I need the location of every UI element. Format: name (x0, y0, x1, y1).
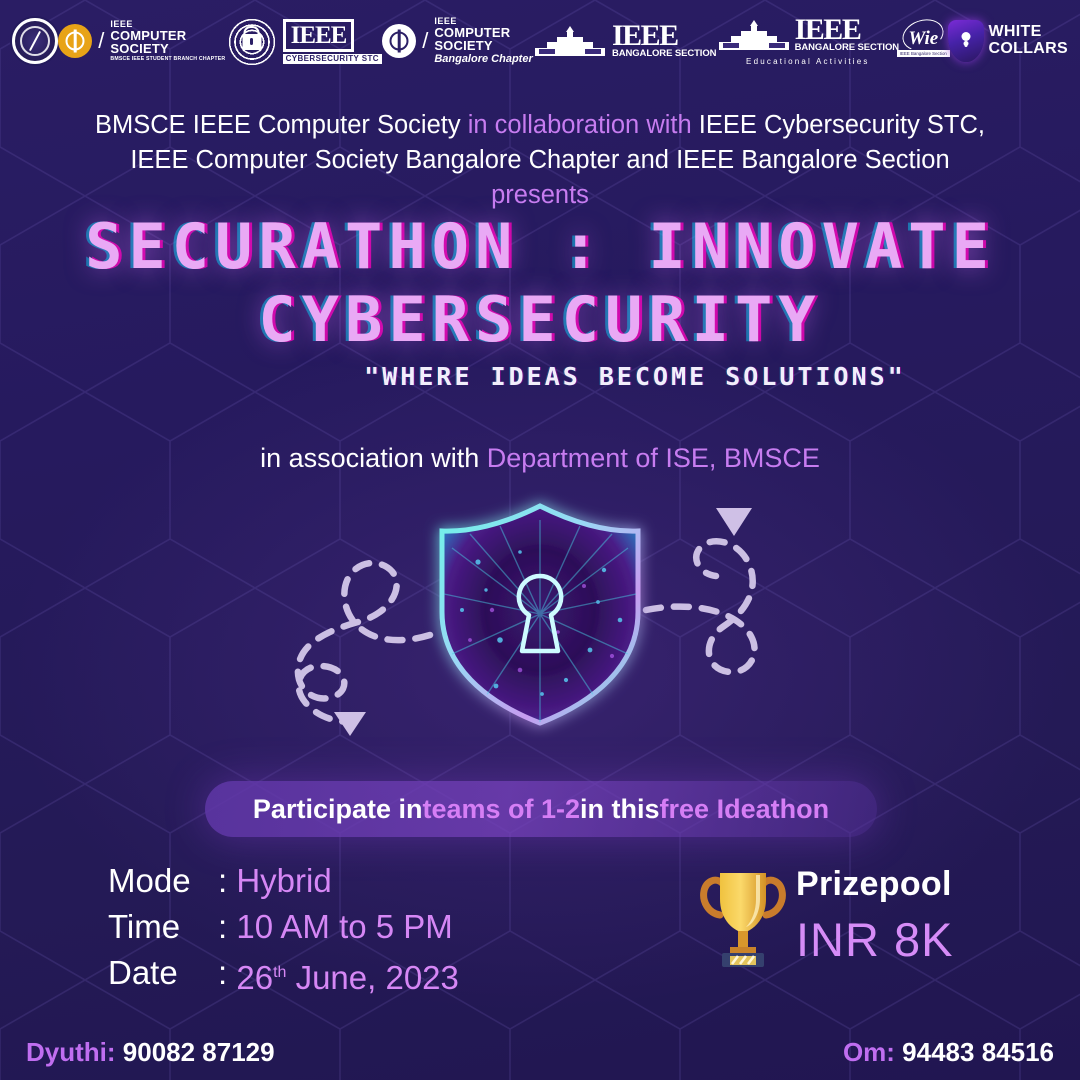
detail-sep-mode: : (218, 860, 236, 902)
detail-label-date: Date (108, 952, 218, 999)
contact-dyuthi: Dyuthi: 90082 87129 (26, 1037, 275, 1068)
dashed-path-left (298, 563, 430, 722)
bangalore-section-strip: BANGALORE SECTION (612, 49, 716, 59)
partner-logo-bar: / IEEE COMPUTER SOCIETY BMSCE IEEE STUDE… (0, 0, 1080, 82)
logo-ieee-bangalore-educational-activities: IEEE BANGALORE SECTION Educational Activ… (717, 16, 899, 65)
detail-label-time: Time (108, 906, 218, 948)
contact-om: Om: 94483 84516 (843, 1037, 1054, 1068)
contact-name-dyuthi: Dyuthi: (26, 1037, 116, 1067)
association-department: Department of ISE, BMSCE (487, 443, 820, 473)
detail-sep-date: : (218, 952, 236, 999)
educational-activities-subtitle: Educational Activities (746, 57, 870, 66)
event-tagline: "WHERE IDEAS BECOME SOLUTIONS" (0, 362, 1080, 391)
association-prefix: in association with (260, 443, 487, 473)
free-ideathon-highlight: free Ideathon (660, 794, 830, 825)
cs-line-society: SOCIETY (110, 42, 225, 55)
ieee-cs-mark-icon (382, 24, 416, 58)
ieee-boxed-wordmark: IEEE (283, 19, 355, 52)
fingerprint-lock-icon (226, 15, 278, 67)
event-title-line-1: SECURATHON : INNOVATE (0, 218, 1080, 275)
prizepool-amount: INR 8K (796, 912, 954, 967)
organizers-line-1: BMSCE IEEE Computer Society in collabora… (0, 108, 1080, 143)
ieee-cs-mark-icon (58, 24, 92, 58)
detail-row-mode: Mode : Hybrid (108, 860, 459, 902)
collaboration-highlight: in collaboration with (468, 111, 692, 139)
contact-phone-dyuthi: 90082 87129 (123, 1037, 275, 1067)
shield-artwork-area (0, 490, 1080, 760)
organizers-header: BMSCE IEEE Computer Society in collabora… (0, 108, 1080, 213)
bmsce-seal-icon (12, 18, 58, 64)
logo-ieee-cs-bangalore-chapter: / IEEE COMPUTER SOCIETY Bangalore Chapte… (382, 17, 533, 65)
logo-bmsce-seal (12, 18, 58, 64)
detail-row-date: Date : 26th June, 2023 (108, 952, 459, 999)
slash-divider: / (422, 28, 428, 54)
prizepool-block: Prizepool INR 8K (700, 857, 954, 969)
logo-white-collars: WHITE COLLARS (948, 20, 1068, 62)
organizer-primary: BMSCE IEEE Computer Society (95, 111, 468, 139)
date-day-number: 26 (236, 959, 273, 996)
prizepool-label: Prizepool (796, 865, 954, 904)
presents-word: presents (0, 178, 1080, 213)
detail-row-time: Time : 10 AM to 5 PM (108, 906, 459, 948)
arrow-marker-right (716, 508, 752, 536)
date-month-year: June, 2023 (286, 959, 458, 996)
contact-phone-om: 94483 84516 (902, 1037, 1054, 1067)
date-ordinal-suffix: th (273, 964, 286, 981)
detail-label-mode: Mode (108, 860, 218, 902)
event-title-line-2: CYBERSECURITY (0, 291, 1080, 348)
event-details-list: Mode : Hybrid Time : 10 AM to 5 PM Date … (108, 860, 459, 1003)
vidhana-soudha-icon (717, 18, 791, 52)
logo-ieee-computer-society-bmsce: / IEEE COMPUTER SOCIETY BMSCE IEEE STUDE… (58, 20, 225, 62)
participate-prefix: Participate in (253, 794, 423, 825)
ieee-wordmark: IEEE (612, 22, 716, 49)
team-size-highlight: teams of 1-2 (422, 794, 580, 825)
dashed-path-right (646, 541, 755, 672)
vidhana-soudha-icon (533, 24, 607, 58)
white-collars-line1: WHITE (989, 24, 1068, 41)
detail-value-date: 26th June, 2023 (236, 952, 459, 999)
cs-line-society: SOCIETY (434, 39, 532, 52)
wie-section-chip: IEEE Bangalore Section (897, 50, 950, 57)
logo-ieee-cybersecurity-stc: IEEE CYBERSECURITY STC (226, 15, 382, 67)
poster-canvas: / IEEE COMPUTER SOCIETY BMSCE IEEE STUDE… (0, 0, 1080, 1080)
arrow-marker-left (334, 712, 366, 736)
organizers-line-2: IEEE Computer Society Bangalore Chapter … (0, 143, 1080, 178)
contact-name-om: Om: (843, 1037, 895, 1067)
trophy-icon (700, 857, 786, 969)
participate-middle: in this (580, 794, 660, 825)
cybersecurity-stc-strip: CYBERSECURITY STC (283, 54, 382, 64)
association-line: in association with Department of ISE, B… (0, 443, 1080, 474)
shield-keyhole-icon (0, 490, 1080, 760)
detail-value-mode: Hybrid (236, 860, 331, 902)
bangalore-chapter-subtitle: Bangalore Chapter (434, 54, 532, 65)
slash-divider: / (98, 28, 104, 54)
logo-ieee-wie-bangalore: Wie IEEE Bangalore Section (899, 19, 947, 63)
detail-sep-time: : (218, 906, 236, 948)
detail-value-time: 10 AM to 5 PM (236, 906, 452, 948)
participate-banner: Participate in teams of 1-2 in this free… (205, 781, 877, 837)
bmsce-branch-subtitle: BMSCE IEEE STUDENT BRANCH CHAPTER (110, 57, 225, 62)
event-title-block: SECURATHON : INNOVATE CYBERSECURITY "WHE… (0, 218, 1080, 391)
bangalore-section-strip: BANGALORE SECTION (795, 43, 899, 53)
white-collars-line2: COLLARS (989, 41, 1068, 58)
organizer-stc: IEEE Cybersecurity STC, (692, 111, 985, 139)
logo-ieee-bangalore-section: IEEE BANGALORE SECTION (533, 22, 716, 59)
white-collars-shield-icon (948, 20, 984, 62)
cs-line-computer: COMPUTER (110, 29, 225, 42)
ieee-wordmark: IEEE (795, 16, 899, 43)
